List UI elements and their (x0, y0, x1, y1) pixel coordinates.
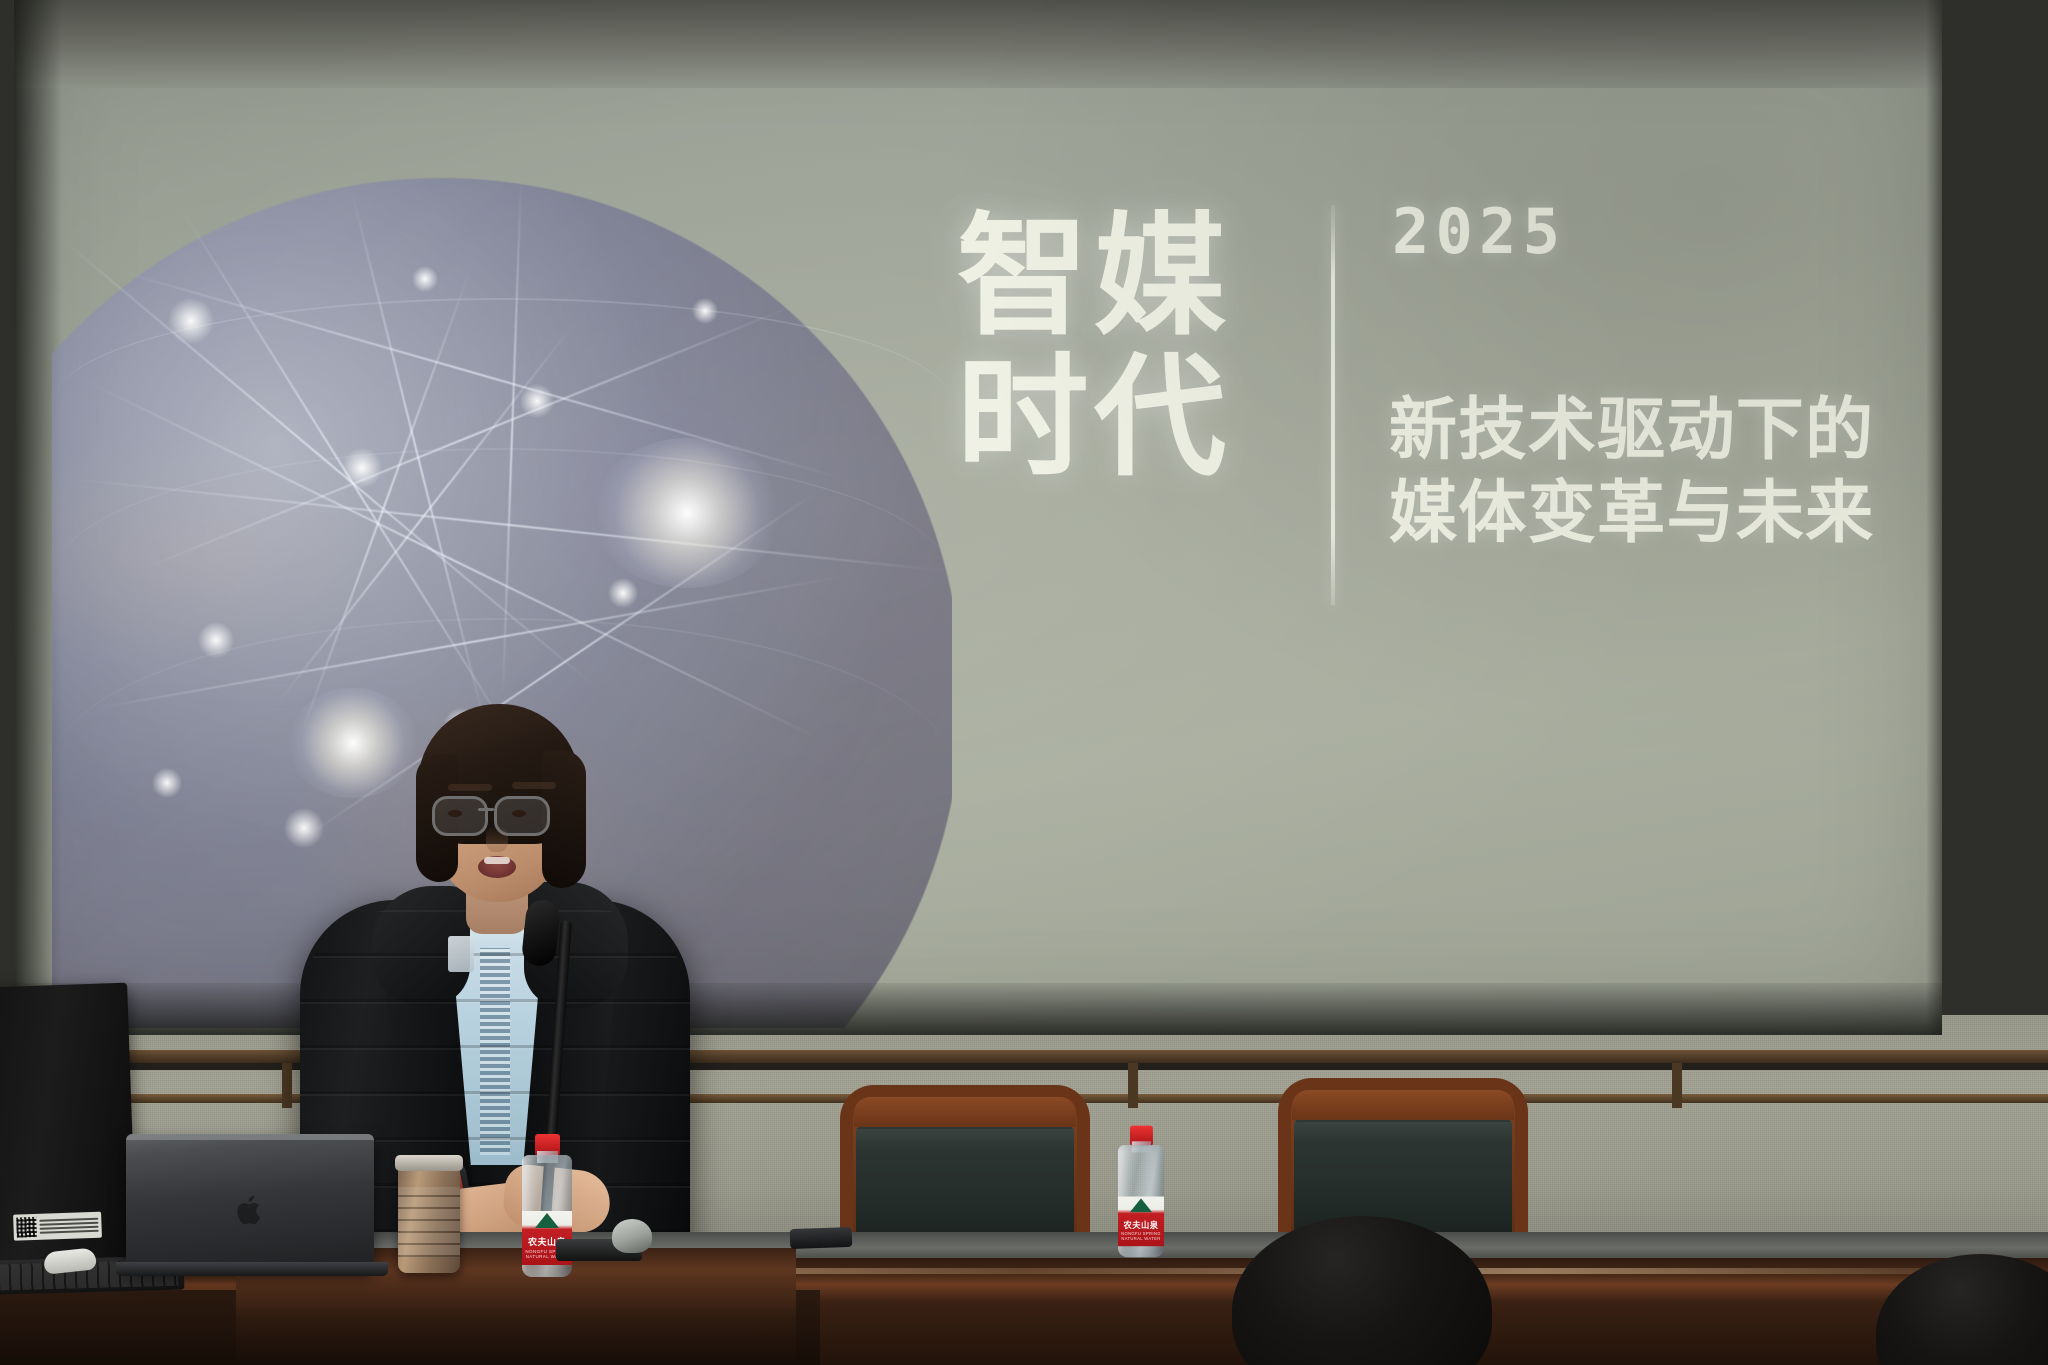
wall-rail-post-1 (282, 1063, 292, 1108)
laptop-lid-edge (126, 1134, 374, 1140)
speaker-eye-right (512, 810, 526, 817)
speaker-eye-left (448, 810, 462, 817)
bottle-brand-cn-2: 农夫山泉 (1124, 1222, 1159, 1231)
microphone-knob (612, 1219, 652, 1253)
chair-left (840, 1085, 1090, 1250)
speaker-name-badge (448, 936, 474, 972)
mountain-logo-icon-2 (1130, 1198, 1152, 1212)
chair-right (1278, 1078, 1528, 1243)
chair-left-crest (854, 1097, 1076, 1127)
monitor-asset-tag (13, 1212, 102, 1241)
qr-code-icon (16, 1217, 37, 1238)
laptop-base (116, 1262, 388, 1276)
chair-right-crest (1292, 1090, 1514, 1120)
chair-right-highlight (1294, 1122, 1512, 1142)
asset-tag-lines (39, 1218, 98, 1234)
thermos-texture (398, 1187, 460, 1257)
wall-rail-post-3 (1672, 1063, 1682, 1108)
glasses-bridge-icon (478, 808, 494, 811)
thermos-cup[interactable] (398, 1165, 460, 1273)
screenshot-root: 智媒 时代 2025 新技术驱动下的 媒体变革与未来 (0, 0, 2048, 1365)
apple-logo-icon (235, 1193, 265, 1227)
speaker-eyebrow-right (512, 782, 556, 789)
bottle-label-2: 农夫山泉 NONGFU SPRING NATURAL WATER (1118, 1197, 1164, 1247)
glasses-lens-left-icon (432, 796, 488, 836)
microphone-base-unit[interactable] (556, 1205, 642, 1261)
speaker-nose (486, 826, 508, 852)
presenter-remote[interactable] (790, 1227, 853, 1249)
laptop[interactable] (126, 1134, 374, 1269)
thermos-lid (395, 1155, 463, 1171)
wall-rail-post-2 (1128, 1063, 1138, 1108)
chair-left-highlight (856, 1129, 1074, 1149)
bottle-brand-en-2-2: NATURAL WATER (1121, 1236, 1160, 1241)
speaker-eyebrow-left (448, 784, 492, 791)
speaker-teeth (484, 857, 510, 864)
desktop-monitor[interactable] (0, 983, 137, 1268)
